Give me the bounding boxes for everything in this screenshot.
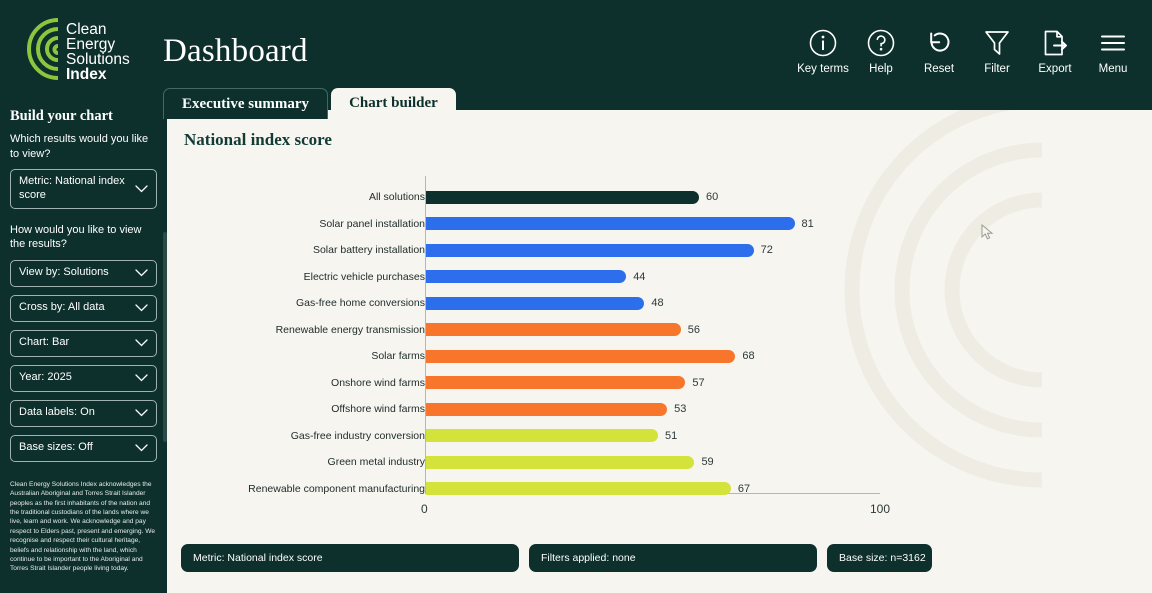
- undo-arrow-icon: [924, 28, 954, 58]
- bar[interactable]: [426, 429, 658, 442]
- sidebar-question-2: How would you like to view the results?: [10, 223, 157, 252]
- bar-category-label: Solar farms: [167, 350, 425, 362]
- year-select-label: Year: 2025: [19, 371, 72, 385]
- bar-value-label: 59: [701, 456, 713, 468]
- acknowledgement-text: Clean Energy Solutions Index acknowledge…: [10, 480, 160, 574]
- bar-value-label: 81: [802, 218, 814, 230]
- bar-value-label: 51: [665, 430, 677, 442]
- bar[interactable]: [426, 297, 644, 310]
- page-title: Dashboard: [163, 33, 308, 70]
- bar-category-label: Electric vehicle purchases: [167, 271, 425, 283]
- bar[interactable]: [426, 482, 731, 495]
- base-sizes-select[interactable]: Base sizes: Off: [10, 435, 157, 462]
- key-terms-label: Key terms: [797, 63, 849, 75]
- key-terms-button[interactable]: Key terms: [794, 28, 852, 75]
- bar-category-label: Renewable energy transmission: [167, 324, 425, 336]
- bar-value-label: 57: [692, 377, 704, 389]
- chevron-down-icon: [135, 304, 148, 312]
- bar-value-label: 56: [688, 324, 700, 336]
- chevron-down-icon: [135, 374, 148, 382]
- reset-button[interactable]: Reset: [910, 28, 968, 75]
- sidebar: Build your chart Which results would you…: [0, 92, 167, 593]
- bar-row: Solar battery installation72: [167, 237, 1152, 264]
- status-base-size: Base size: n=3162: [827, 544, 932, 572]
- chevron-down-icon: [135, 339, 148, 347]
- bar-value-label: 68: [742, 350, 754, 362]
- chevron-down-icon: [135, 185, 148, 193]
- filter-label: Filter: [984, 63, 1010, 75]
- bar-value-label: 67: [738, 483, 750, 495]
- chart-type-select-label: Chart: Bar: [19, 336, 69, 350]
- bar-row: Solar panel installation81: [167, 211, 1152, 238]
- bar-row: Gas-free home conversions48: [167, 290, 1152, 317]
- chart-title: National index score: [184, 130, 332, 150]
- bar-value-label: 60: [706, 191, 718, 203]
- export-label: Export: [1038, 63, 1071, 75]
- bar-row: Solar farms68: [167, 343, 1152, 370]
- status-bar: Metric: National index score Filters app…: [181, 544, 1141, 572]
- dashboard-app: Clean Energy Solutions Index Dashboard K…: [0, 0, 1152, 593]
- status-filters: Filters applied: none: [529, 544, 817, 572]
- chevron-down-icon: [135, 409, 148, 417]
- bar-category-label: Onshore wind farms: [167, 377, 425, 389]
- data-labels-select[interactable]: Data labels: On: [10, 400, 157, 427]
- bar[interactable]: [426, 403, 667, 416]
- chevron-down-icon: [135, 269, 148, 277]
- bar[interactable]: [426, 456, 694, 469]
- bar-row: Onshore wind farms57: [167, 370, 1152, 397]
- year-select[interactable]: Year: 2025: [10, 365, 157, 392]
- bar[interactable]: [426, 217, 795, 230]
- tab-chart-builder[interactable]: Chart builder: [331, 88, 456, 119]
- info-circle-icon: [808, 28, 838, 58]
- bar-row: All solutions60: [167, 184, 1152, 211]
- header-toolbar: Key terms Help Reset: [794, 28, 1142, 75]
- bar[interactable]: [426, 350, 735, 363]
- bar-category-label: All solutions: [167, 191, 425, 203]
- reset-label: Reset: [924, 63, 954, 75]
- data-labels-select-label: Data labels: On: [19, 406, 95, 420]
- help-button[interactable]: Help: [852, 28, 910, 75]
- menu-label: Menu: [1099, 63, 1128, 75]
- document-export-icon: [1040, 28, 1070, 58]
- bar-category-label: Gas-free industry conversion: [167, 430, 425, 442]
- bar[interactable]: [426, 244, 754, 257]
- cross-by-select[interactable]: Cross by: All data: [10, 295, 157, 322]
- metric-select[interactable]: Metric: National index score: [10, 169, 157, 209]
- bar-row: Renewable component manufacturing67: [167, 476, 1152, 503]
- axis-tick-min: 0: [421, 502, 428, 516]
- tab-executive-summary[interactable]: Executive summary: [163, 88, 328, 119]
- sidebar-question-1: Which results would you like to view?: [10, 132, 157, 161]
- bar-value-label: 48: [651, 297, 663, 309]
- bar-row: Electric vehicle purchases44: [167, 264, 1152, 291]
- bar[interactable]: [426, 191, 699, 204]
- bar-category-label: Renewable component manufacturing: [167, 483, 425, 495]
- question-circle-icon: [866, 28, 896, 58]
- hamburger-menu-icon: [1098, 28, 1128, 58]
- chevron-down-icon: [135, 444, 148, 452]
- export-button[interactable]: Export: [1026, 28, 1084, 75]
- chart-type-select[interactable]: Chart: Bar: [10, 330, 157, 357]
- app-header: Clean Energy Solutions Index Dashboard K…: [0, 0, 1152, 92]
- bar-category-label: Solar panel installation: [167, 218, 425, 230]
- bar-value-label: 44: [633, 271, 645, 283]
- bar-row: Renewable energy transmission56: [167, 317, 1152, 344]
- bar-category-label: Offshore wind farms: [167, 403, 425, 415]
- view-by-select-label: View by: Solutions: [19, 266, 109, 280]
- metric-select-label: Metric: National index score: [19, 175, 130, 203]
- bar[interactable]: [426, 323, 681, 336]
- main-panel: National index score All solutions60Sola…: [167, 110, 1152, 593]
- axis-tick-max: 100: [870, 502, 890, 516]
- bar-row: Green metal industry59: [167, 449, 1152, 476]
- bar-category-label: Green metal industry: [167, 456, 425, 468]
- menu-button[interactable]: Menu: [1084, 28, 1142, 75]
- logo-text-index: Index: [66, 66, 107, 82]
- cross-by-select-label: Cross by: All data: [19, 301, 105, 315]
- clean-energy-solutions-index-logo: Clean Energy Solutions Index: [12, 16, 152, 82]
- help-label: Help: [869, 63, 893, 75]
- bar-row: Gas-free industry conversion51: [167, 423, 1152, 450]
- filter-button[interactable]: Filter: [968, 28, 1026, 75]
- bar[interactable]: [426, 376, 685, 389]
- bar[interactable]: [426, 270, 626, 283]
- base-sizes-select-label: Base sizes: Off: [19, 441, 93, 455]
- bar-row: Offshore wind farms53: [167, 396, 1152, 423]
- bar-value-label: 53: [674, 403, 686, 415]
- tab-bar: Executive summary Chart builder: [163, 88, 456, 119]
- bar-category-label: Gas-free home conversions: [167, 297, 425, 309]
- status-metric: Metric: National index score: [181, 544, 519, 572]
- funnel-icon: [982, 28, 1012, 58]
- bar-chart: All solutions60Solar panel installation8…: [167, 176, 1152, 526]
- sidebar-title: Build your chart: [10, 108, 157, 125]
- bar-category-label: Solar battery installation: [167, 244, 425, 256]
- view-by-select[interactable]: View by: Solutions: [10, 260, 157, 287]
- bar-value-label: 72: [761, 244, 773, 256]
- logo-arcs-icon: Clean Energy Solutions Index: [12, 16, 152, 82]
